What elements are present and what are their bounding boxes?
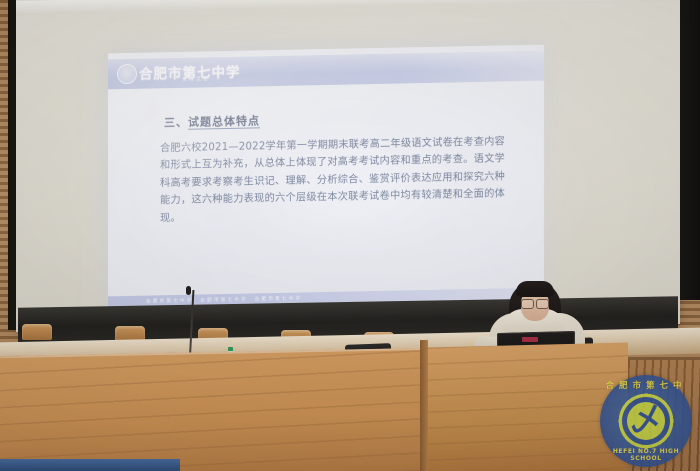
water-bottle-cap: [228, 347, 233, 351]
school-watermark-logo: 乄 合肥市第七中 HEFEI NO.7 HIGH SCHOOL: [600, 375, 692, 467]
watermark-bird-icon: 乄: [630, 405, 662, 437]
slide-school-subtitle: 求真至善: [182, 75, 210, 83]
podium-edge: [420, 340, 428, 471]
slide-title: 三、试题总体特点: [164, 112, 260, 130]
watermark-english-text: HEFEI NO.7 HIGH SCHOOL: [600, 448, 692, 462]
screen-bracket: [22, 324, 52, 340]
photo-scene: 合肥市第七中学 求真至善 三、试题总体特点 合肥六校2021—2022学年第一学…: [0, 0, 700, 471]
floor-baseboard: [0, 459, 180, 471]
laptop-logo: [522, 337, 538, 342]
slide-title-number: 三、: [164, 116, 188, 129]
watermark-chinese-text: 合肥市第七中: [600, 379, 692, 391]
microphone-head: [186, 286, 191, 295]
podium-side: [428, 343, 628, 471]
eyeglasses-icon: [521, 299, 549, 307]
podium-front: [0, 348, 434, 471]
slide-body-text: 合肥六校2021—2022学年第一学期期末联考高二年级语文试卷在考查内容和形式上…: [160, 133, 505, 227]
slide-title-text: 试题总体特点: [188, 114, 260, 128]
projected-slide: 合肥市第七中学 求真至善 三、试题总体特点 合肥六校2021—2022学年第一学…: [108, 45, 544, 316]
right-dark-edge: [678, 0, 700, 300]
presenter-fringe: [516, 281, 554, 297]
